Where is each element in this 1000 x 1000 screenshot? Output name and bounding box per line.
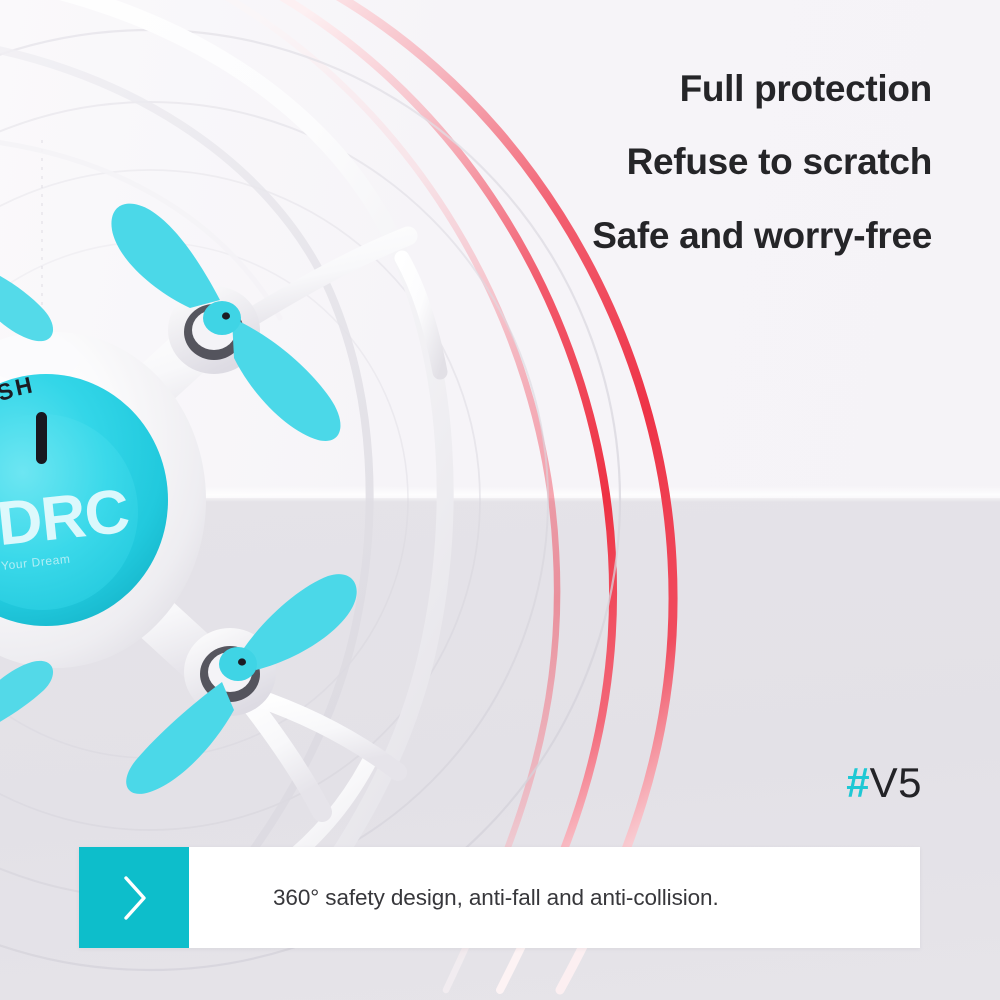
promo-banner: ELFISH 4DRC Make Your Dream Full protect… <box>0 0 1000 1000</box>
next-button[interactable] <box>79 847 189 948</box>
chevron-right-icon <box>117 872 151 924</box>
headline-line-1: Full protection <box>680 70 932 107</box>
headline-line-2: Refuse to scratch <box>627 143 932 180</box>
drone-brand-text: 4DRC <box>0 477 132 563</box>
caption-card: 360° safety design, anti-fall and anti-c… <box>189 847 920 948</box>
hash-symbol: # <box>846 759 869 806</box>
drone-model-text: ELFISH <box>0 371 37 436</box>
headline-line-3: Safe and worry-free <box>592 217 932 254</box>
model-name: V5 <box>870 759 922 806</box>
caption-bar[interactable]: 360° safety design, anti-fall and anti-c… <box>79 847 920 948</box>
model-badge: #V5 <box>846 762 922 804</box>
caption-text: 360° safety design, anti-fall and anti-c… <box>273 885 719 911</box>
